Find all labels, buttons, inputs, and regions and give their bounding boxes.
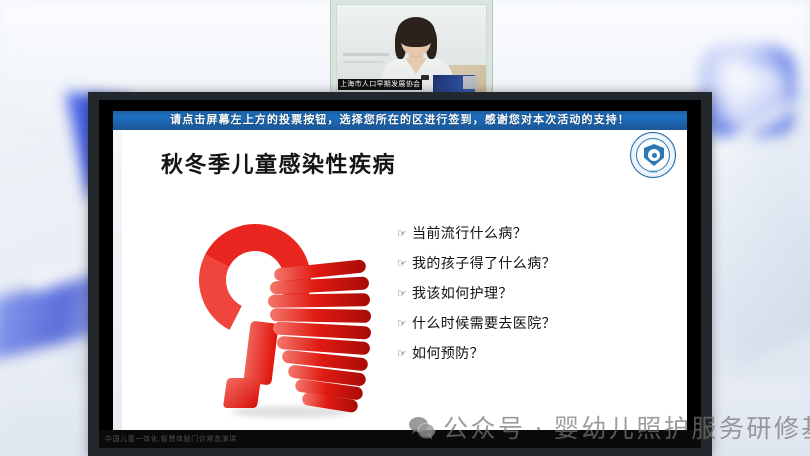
list-item-label: 如何预防？	[412, 346, 484, 363]
question-mark-dot	[223, 378, 261, 408]
speaker-video-tile[interactable]: 上海市人口早期发展协会	[331, 0, 492, 95]
pointing-hand-icon: ☞	[397, 256, 412, 273]
video-caption-label: 上海市人口早期发展协会	[338, 79, 422, 90]
video-shelf	[343, 53, 389, 56]
speaker-video-frame: 上海市人口早期发展协会	[336, 4, 487, 93]
list-item: ☞ 如何预防？	[397, 346, 667, 363]
list-item: ☞ 我的孩子得了什么病？	[397, 256, 667, 273]
pointing-hand-icon: ☞	[397, 316, 412, 333]
pointing-hand-icon: ☞	[397, 346, 412, 363]
list-item-label: 我该如何护理？	[412, 286, 513, 303]
emblem-center-dot	[652, 153, 657, 158]
organization-emblem-icon: 1995	[630, 132, 676, 178]
question-mark-coil	[268, 264, 373, 414]
question-list: ☞ 当前流行什么病？ ☞ 我的孩子得了什么病？ ☞ 我该如何护理？ ☞ 什么时候…	[397, 226, 667, 376]
list-item-label: 什么时候需要去医院？	[412, 316, 556, 333]
screenshot-stage: 上海市人口早期发展协会 请点击屏幕左上方的投票按钮，选择您所在的区进行签到，感谢…	[0, 0, 810, 456]
screen-bottom-caption: 中国儿童一体化.智慧体贴门诊常态演讲	[105, 434, 237, 444]
slide-title: 秋冬季儿童感染性疾病	[161, 147, 396, 179]
list-item: ☞ 什么时候需要去医院？	[397, 316, 667, 333]
pointing-hand-icon: ☞	[397, 286, 412, 303]
video-monitor-glare	[463, 76, 477, 89]
screen-bottom-strip: 中国儿童一体化.智慧体贴门诊常态演讲	[99, 430, 701, 448]
slide-content: 秋冬季儿童感染性疾病 1995 ☞ 当前流行什么病？	[113, 130, 687, 430]
vote-instruction-banner: 请点击屏幕左上方的投票按钮，选择您所在的区进行签到，感谢您对本次活动的支持！	[113, 111, 687, 130]
list-item: ☞ 我该如何护理？	[397, 286, 667, 303]
presentation-slide: 秋冬季儿童感染性疾病 1995 ☞ 当前流行什么病？	[113, 130, 687, 430]
emblem-year: 1995	[631, 169, 675, 174]
slide-left-margin	[113, 130, 122, 430]
video-shelf-secondary	[343, 61, 383, 63]
list-item-label: 当前流行什么病？	[412, 226, 527, 243]
question-mark-graphic-icon	[173, 218, 383, 423]
list-item: ☞ 当前流行什么病？	[397, 226, 667, 243]
list-item-label: 我的孩子得了什么病？	[412, 256, 556, 273]
pointing-hand-icon: ☞	[397, 226, 412, 243]
speaker-hair-top	[397, 17, 435, 47]
